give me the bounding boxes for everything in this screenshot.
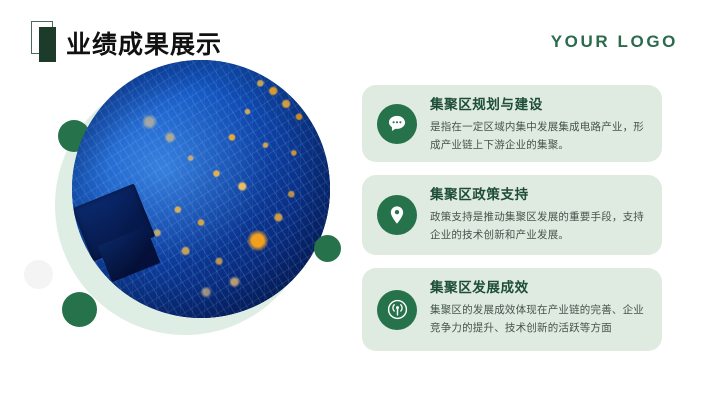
- page-title: 业绩成果展示: [66, 25, 222, 61]
- photo-vignette: [72, 60, 330, 318]
- chat-bubble-icon: [377, 104, 417, 144]
- circuit-board-photo: [72, 60, 330, 318]
- content-card-list: 集聚区规划与建设 是指在一定区域内集中发展集成电路产业，形成产业链上下游企业的集…: [362, 85, 662, 364]
- visual-group: [0, 60, 350, 405]
- content-card[interactable]: 集聚区规划与建设 是指在一定区域内集中发展集成电路产业，形成产业链上下游企业的集…: [362, 85, 662, 162]
- decor-accent-dot-2: [314, 235, 341, 262]
- broadcast-signal-icon: [377, 290, 417, 330]
- content-card[interactable]: 集聚区政策支持 政策支持是推动集聚区发展的重要手段，支持企业的技术创新和产业发展…: [362, 175, 662, 255]
- card-title: 集聚区政策支持: [430, 187, 648, 204]
- map-pin-icon: [377, 195, 417, 235]
- card-body: 是指在一定区域内集中发展集成电路产业，形成产业链上下游企业的集聚。: [430, 118, 648, 155]
- title-mark-solid-icon: [39, 27, 56, 62]
- decor-light-dot: [24, 260, 53, 289]
- card-body: 政策支持是推动集聚区发展的重要手段，支持企业的技术创新和产业发展。: [430, 208, 648, 245]
- card-body: 集聚区的发展成效体现在产业链的完善、企业竞争力的提升、技术创新的活跃等方面: [430, 301, 648, 338]
- slide-root: 业绩成果展示 YOUR LOGO 集聚区规划与建设: [0, 0, 720, 405]
- logo-text: YOUR LOGO: [551, 32, 678, 52]
- card-title: 集聚区发展成效: [430, 280, 648, 297]
- content-card[interactable]: 集聚区发展成效 集聚区的发展成效体现在产业链的完善、企业竞争力的提升、技术创新的…: [362, 268, 662, 351]
- card-title: 集聚区规划与建设: [430, 97, 648, 114]
